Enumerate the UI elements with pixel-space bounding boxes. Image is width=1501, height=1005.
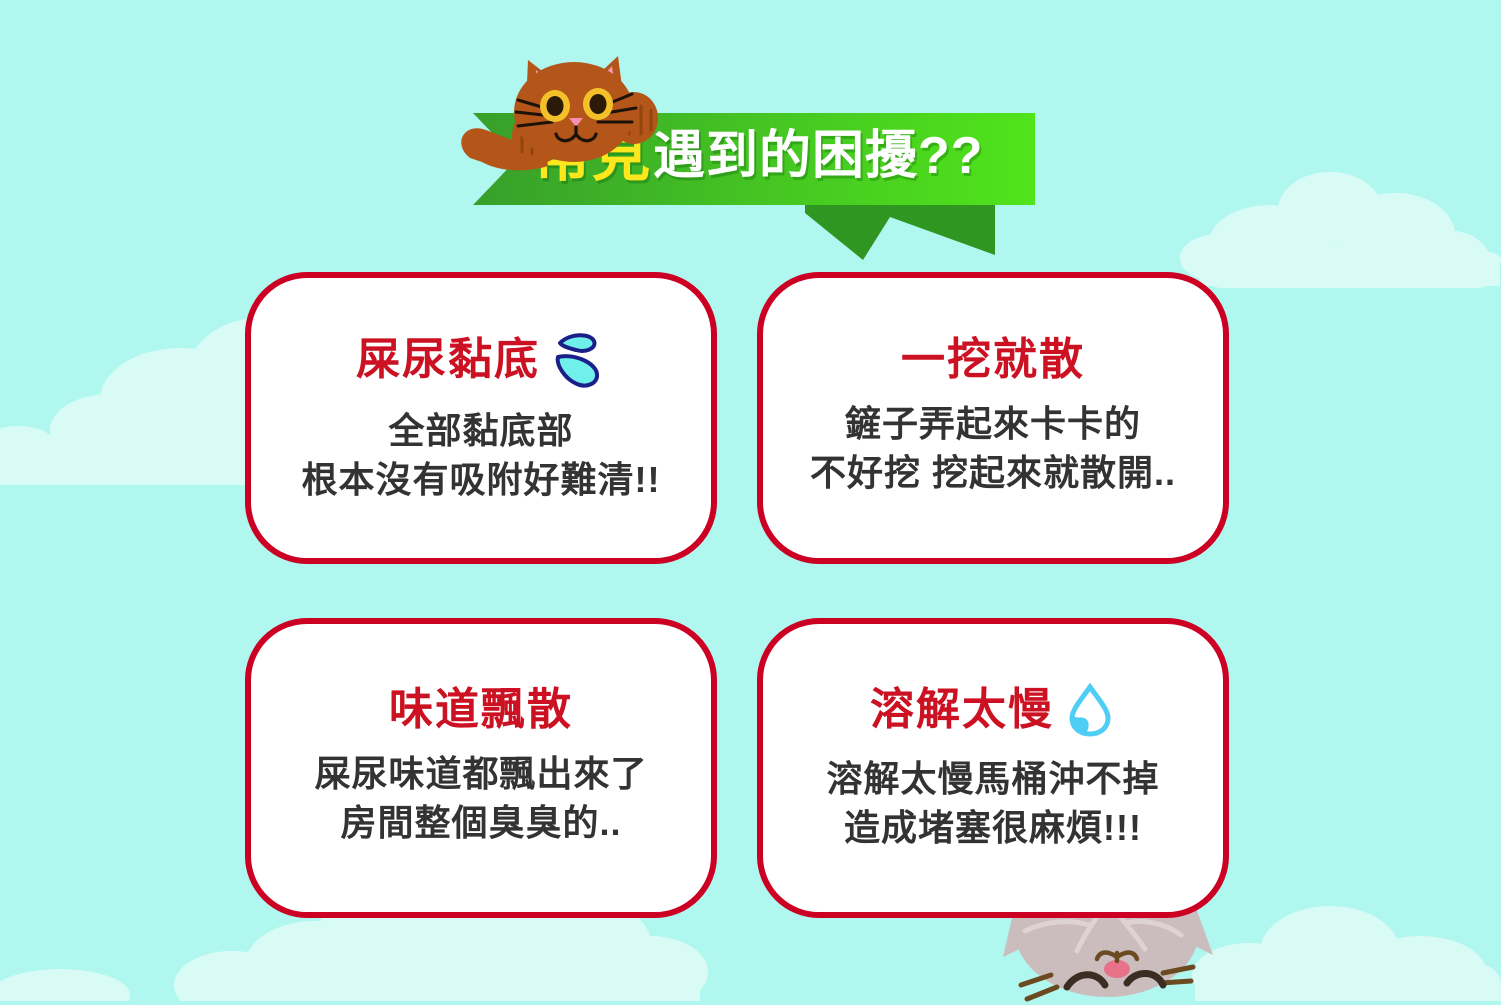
card-4-body-line2: 造成堵塞很麻煩!!! [826,804,1159,853]
card-4-body-line1: 溶解太慢馬桶沖不掉 [826,755,1159,804]
card-1-title: 屎尿黏底 [356,338,540,382]
orange-cat-icon [452,48,702,208]
problem-card-1: 屎尿黏底 全部黏底部 根本沒有吸附好難清!! [245,272,717,564]
card-1-body-line2: 根本沒有吸附好難清!! [302,456,661,505]
water-drop-icon [1064,683,1116,737]
card-1-body: 全部黏底部 根本沒有吸附好難清!! [302,407,661,504]
card-3-body-line2: 房間整個臭臭的.. [314,799,647,848]
card-4-title-row: 溶解太慢 [870,683,1116,737]
card-3-title-row: 味道飄散 [389,688,573,732]
problem-card-2: 一挖就散 鏟子弄起來卡卡的 不好挖 挖起來就散開.. [757,272,1229,564]
card-2-title: 一挖就散 [901,338,1085,382]
cloud-bottom-far-left [0,969,130,1001]
card-3-title: 味道飄散 [389,688,573,732]
problem-card-4: 溶解太慢 溶解太慢馬桶沖不掉 造成堵塞很麻煩!!! [757,618,1229,918]
banner-title-rest: 遇到的困擾?? [653,130,984,182]
card-3-body: 屎尿味道都飄出來了 房間整個臭臭的.. [314,750,647,847]
card-2-body-line2: 不好挖 挖起來就散開.. [810,449,1176,498]
card-1-body-line1: 全部黏底部 [302,407,661,456]
card-4-body: 溶解太慢馬桶沖不掉 造成堵塞很麻煩!!! [826,755,1159,852]
poster-canvas: 常見 遇到的困擾?? [0,0,1501,1001]
card-3-body-line1: 屎尿味道都飄出來了 [314,750,647,799]
cloud-right [1180,172,1501,288]
grey-cat-icon [985,905,1275,1005]
card-4-title: 溶解太慢 [870,688,1054,732]
splash-drop-icon [550,331,606,389]
card-2-title-row: 一挖就散 [901,338,1085,382]
problem-card-3: 味道飄散 屎尿味道都飄出來了 房間整個臭臭的.. [245,618,717,918]
card-1-title-row: 屎尿黏底 [356,331,606,389]
card-2-body: 鏟子弄起來卡卡的 不好挖 挖起來就散開.. [810,400,1176,497]
card-2-body-line1: 鏟子弄起來卡卡的 [810,400,1176,449]
